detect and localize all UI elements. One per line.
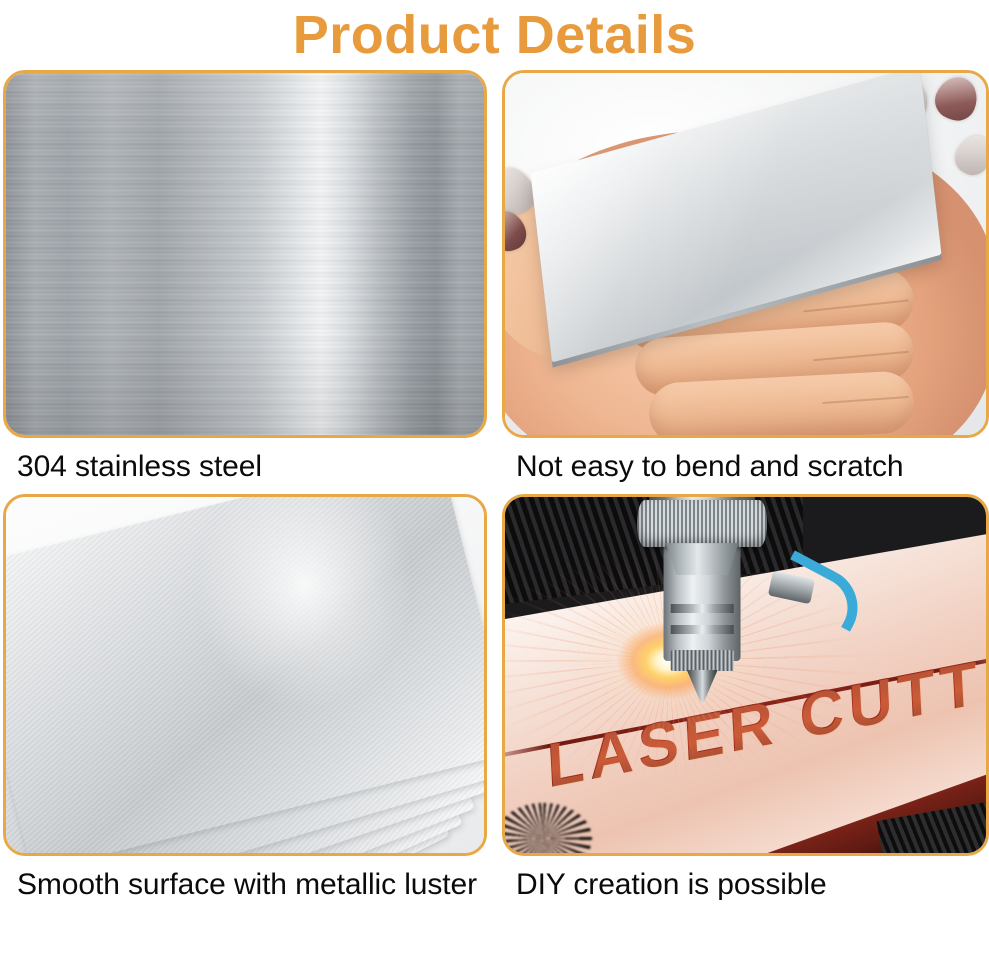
laser-nozzle-collar xyxy=(671,650,734,671)
panel-caption: DIY creation is possible xyxy=(502,868,989,902)
hand-holding-steel-plate-photo xyxy=(505,73,986,435)
stacked-steel-sheets-photo xyxy=(6,497,484,853)
image-frame-diy-creation: LASER CUTT xyxy=(502,494,989,856)
brushed-stainless-steel-surface-photo xyxy=(6,73,484,435)
product-details-grid: 304 stainless steel xyxy=(0,70,989,902)
panel-304-stainless-steel: 304 stainless steel xyxy=(3,70,487,484)
page-title: Product Details xyxy=(293,8,697,62)
laser-head-knurled-ring xyxy=(637,500,767,546)
panel-caption: Smooth surface with metallic luster xyxy=(3,868,487,902)
image-frame-smooth-surface xyxy=(3,494,487,856)
laser-cutting-machine-photo: LASER CUTT xyxy=(505,497,986,853)
panel-caption: Not easy to bend and scratch xyxy=(502,450,989,484)
laser-head-ring xyxy=(671,604,734,613)
panel-smooth-surface: Smooth surface with metallic luster xyxy=(3,494,487,902)
image-frame-304-stainless-steel xyxy=(3,70,487,438)
steel-vertical-shading xyxy=(6,73,484,435)
image-frame-not-easy-to-bend xyxy=(502,70,989,438)
panel-caption: 304 stainless steel xyxy=(3,450,487,484)
panel-not-easy-to-bend: Not easy to bend and scratch xyxy=(502,70,989,484)
panel-diy-creation: LASER CUTT DIY creation is possible xyxy=(502,494,989,902)
page-header: Product Details xyxy=(0,0,989,70)
laser-head-ring xyxy=(671,625,734,634)
